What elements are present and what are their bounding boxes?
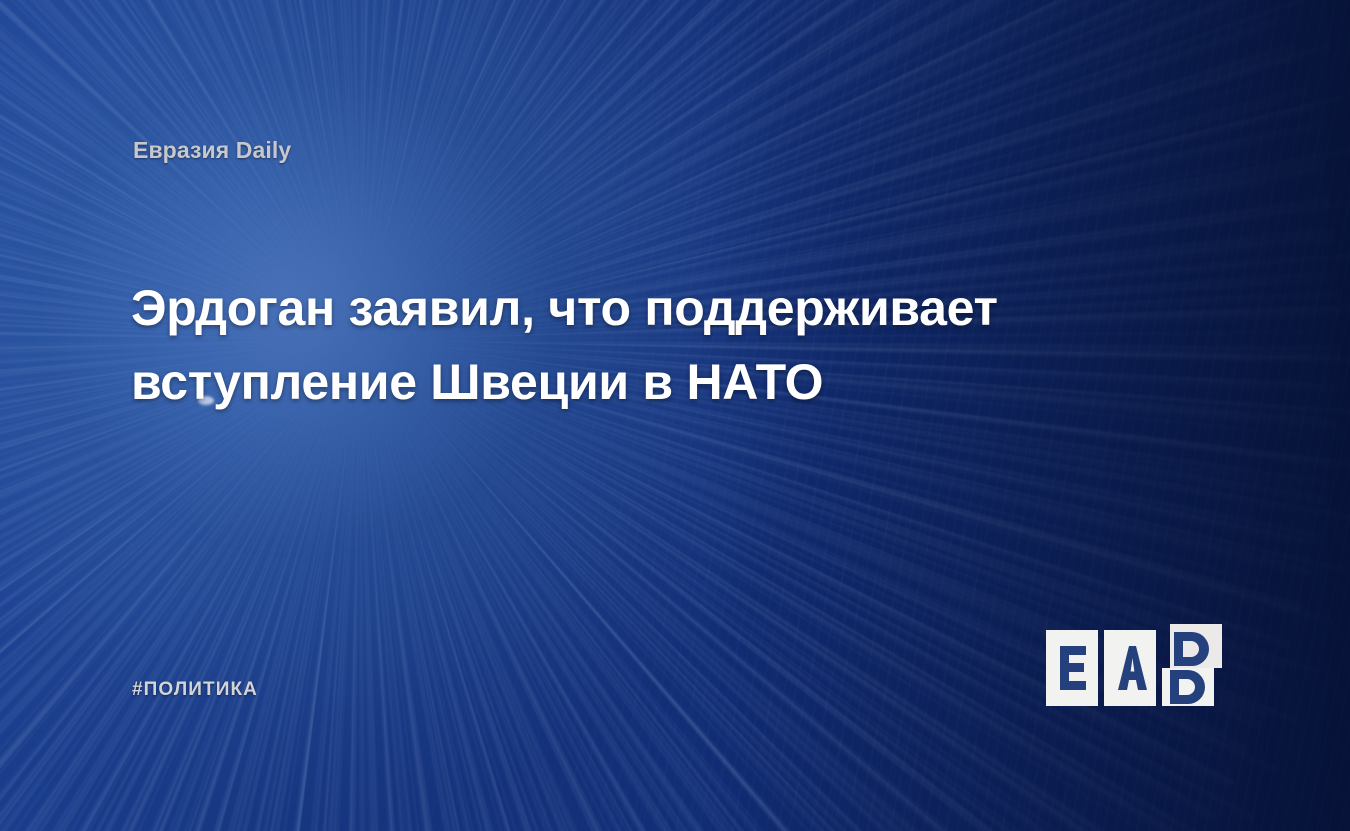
category-hashtag: #ПОЛИТИКА: [132, 679, 258, 701]
eadaily-logo[interactable]: [1046, 624, 1222, 706]
card-content: Евразия Daily Эрдоган заявил, что поддер…: [0, 0, 1350, 831]
logo-letter-e: [1060, 646, 1086, 690]
page-title: Эрдоган заявил, что поддерживает вступле…: [131, 271, 1141, 419]
brand-label: Евразия Daily: [133, 137, 291, 164]
eadaily-logo-mark: [1046, 624, 1222, 706]
news-card: Евразия Daily Эрдоган заявил, что поддер…: [0, 0, 1350, 831]
